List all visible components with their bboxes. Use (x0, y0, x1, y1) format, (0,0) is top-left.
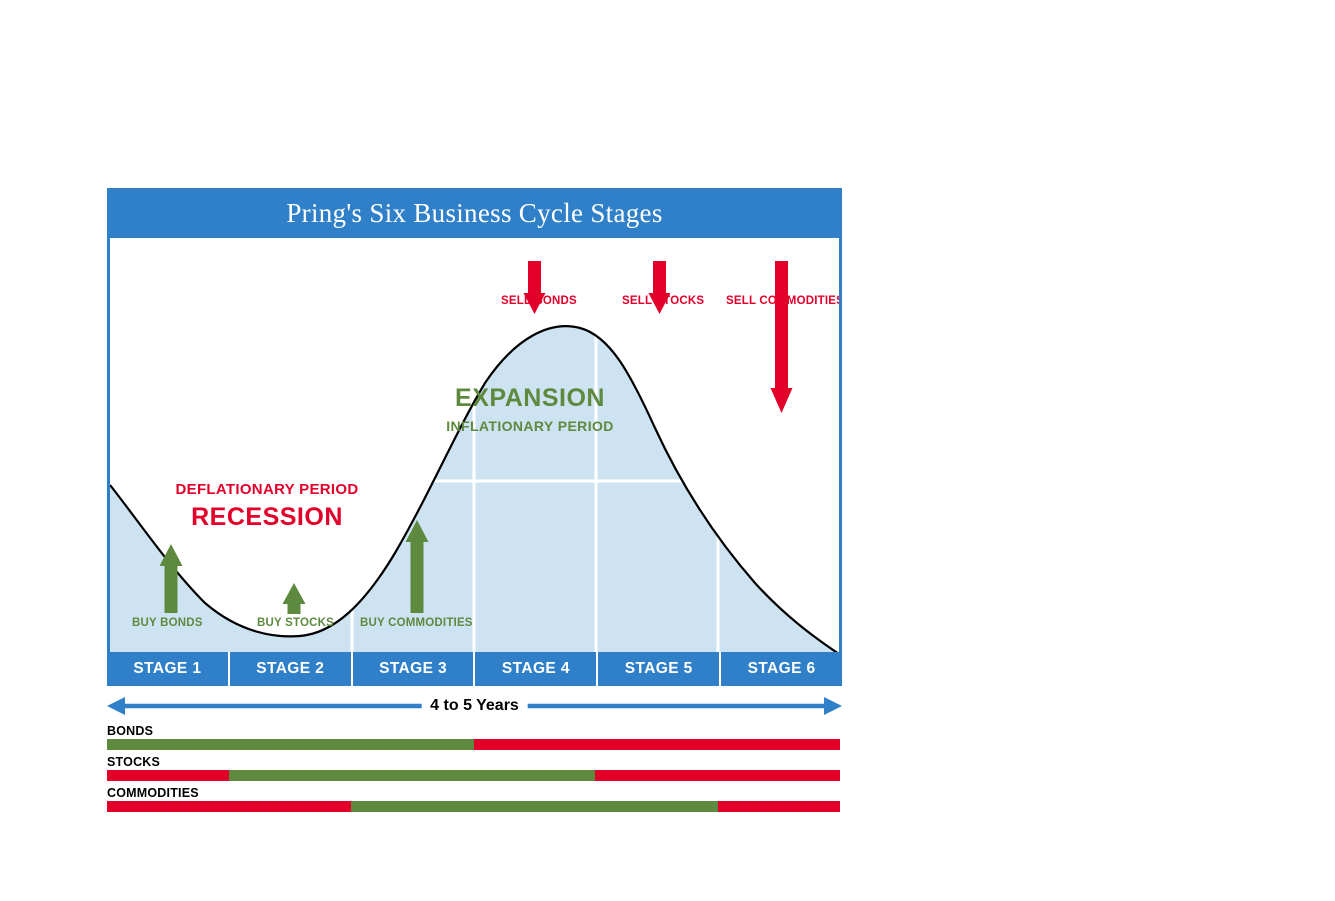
deflationary-period-label: DEFLATIONARY PERIOD (176, 481, 359, 498)
duration-label: 4 to 5 Years (421, 697, 528, 715)
asset-bar-label-commodities: COMMODITIES (107, 786, 842, 800)
bar-segment-bearish (107, 801, 351, 812)
inflationary-period-label: INFLATIONARY PERIOD (446, 418, 614, 434)
buy-bonds-label: BUY BONDS (132, 617, 203, 629)
asset-bars: BONDS STOCKS COMMODITIES (107, 724, 842, 812)
stage-cell-2[interactable]: STAGE 2 (230, 652, 353, 686)
stage-label-3: STAGE 3 (379, 660, 447, 678)
page-title: Pring's Six Business Cycle Stages (286, 198, 662, 229)
stage-cell-3[interactable]: STAGE 3 (353, 652, 476, 686)
asset-bar-bonds: BONDS (107, 724, 842, 750)
bar-track-bonds (107, 739, 840, 750)
stage-label-2: STAGE 2 (256, 660, 324, 678)
title-banner: Pring's Six Business Cycle Stages (107, 188, 842, 238)
asset-bar-commodities: COMMODITIES (107, 786, 842, 812)
duration-indicator: 4 to 5 Years (107, 690, 842, 722)
chart-plot-area: SELL BONDS SELL STOCKS SELL COMMODITIES … (110, 238, 839, 652)
bar-track-stocks (107, 770, 840, 781)
sell-commodities-label: SELL COMMODITIES (726, 295, 839, 307)
stage-label-1: STAGE 1 (133, 660, 201, 678)
stage-strip: STAGE 1 STAGE 2 STAGE 3 STAGE 4 STAGE 5 … (107, 652, 842, 686)
stage-cell-5[interactable]: STAGE 5 (598, 652, 721, 686)
bar-segment-bearish (718, 801, 840, 812)
chart-frame: SELL BONDS SELL STOCKS SELL COMMODITIES … (107, 238, 842, 652)
sell-commodities-arrow-icon (771, 261, 793, 413)
sell-bonds-label: SELL BONDS (501, 295, 577, 307)
stage-label-6: STAGE 6 (748, 660, 816, 678)
recession-label: RECESSION (191, 503, 343, 532)
sell-stocks-label: SELL STOCKS (622, 295, 704, 307)
bar-segment-bullish (229, 770, 596, 781)
stage-label-4: STAGE 4 (502, 660, 570, 678)
stage-cell-4[interactable]: STAGE 4 (475, 652, 598, 686)
business-cycle-figure: Pring's Six Business Cycle Stages (107, 188, 842, 817)
bar-segment-bearish (107, 770, 229, 781)
buy-stocks-arrow-icon (283, 583, 306, 614)
asset-bar-label-bonds: BONDS (107, 724, 842, 738)
bar-track-commodities (107, 801, 840, 812)
buy-commodities-label: BUY COMMODITIES (360, 617, 473, 629)
stage-cell-6[interactable]: STAGE 6 (721, 652, 842, 686)
bar-segment-bearish (474, 739, 841, 750)
bar-segment-bullish (351, 801, 718, 812)
stage-label-5: STAGE 5 (625, 660, 693, 678)
stage-cell-1[interactable]: STAGE 1 (107, 652, 230, 686)
bar-segment-bearish (595, 770, 840, 781)
asset-bar-label-stocks: STOCKS (107, 755, 842, 769)
asset-bar-stocks: STOCKS (107, 755, 842, 781)
buy-stocks-label: BUY STOCKS (257, 617, 334, 629)
expansion-label: EXPANSION (455, 384, 605, 413)
bar-segment-bullish (107, 739, 474, 750)
